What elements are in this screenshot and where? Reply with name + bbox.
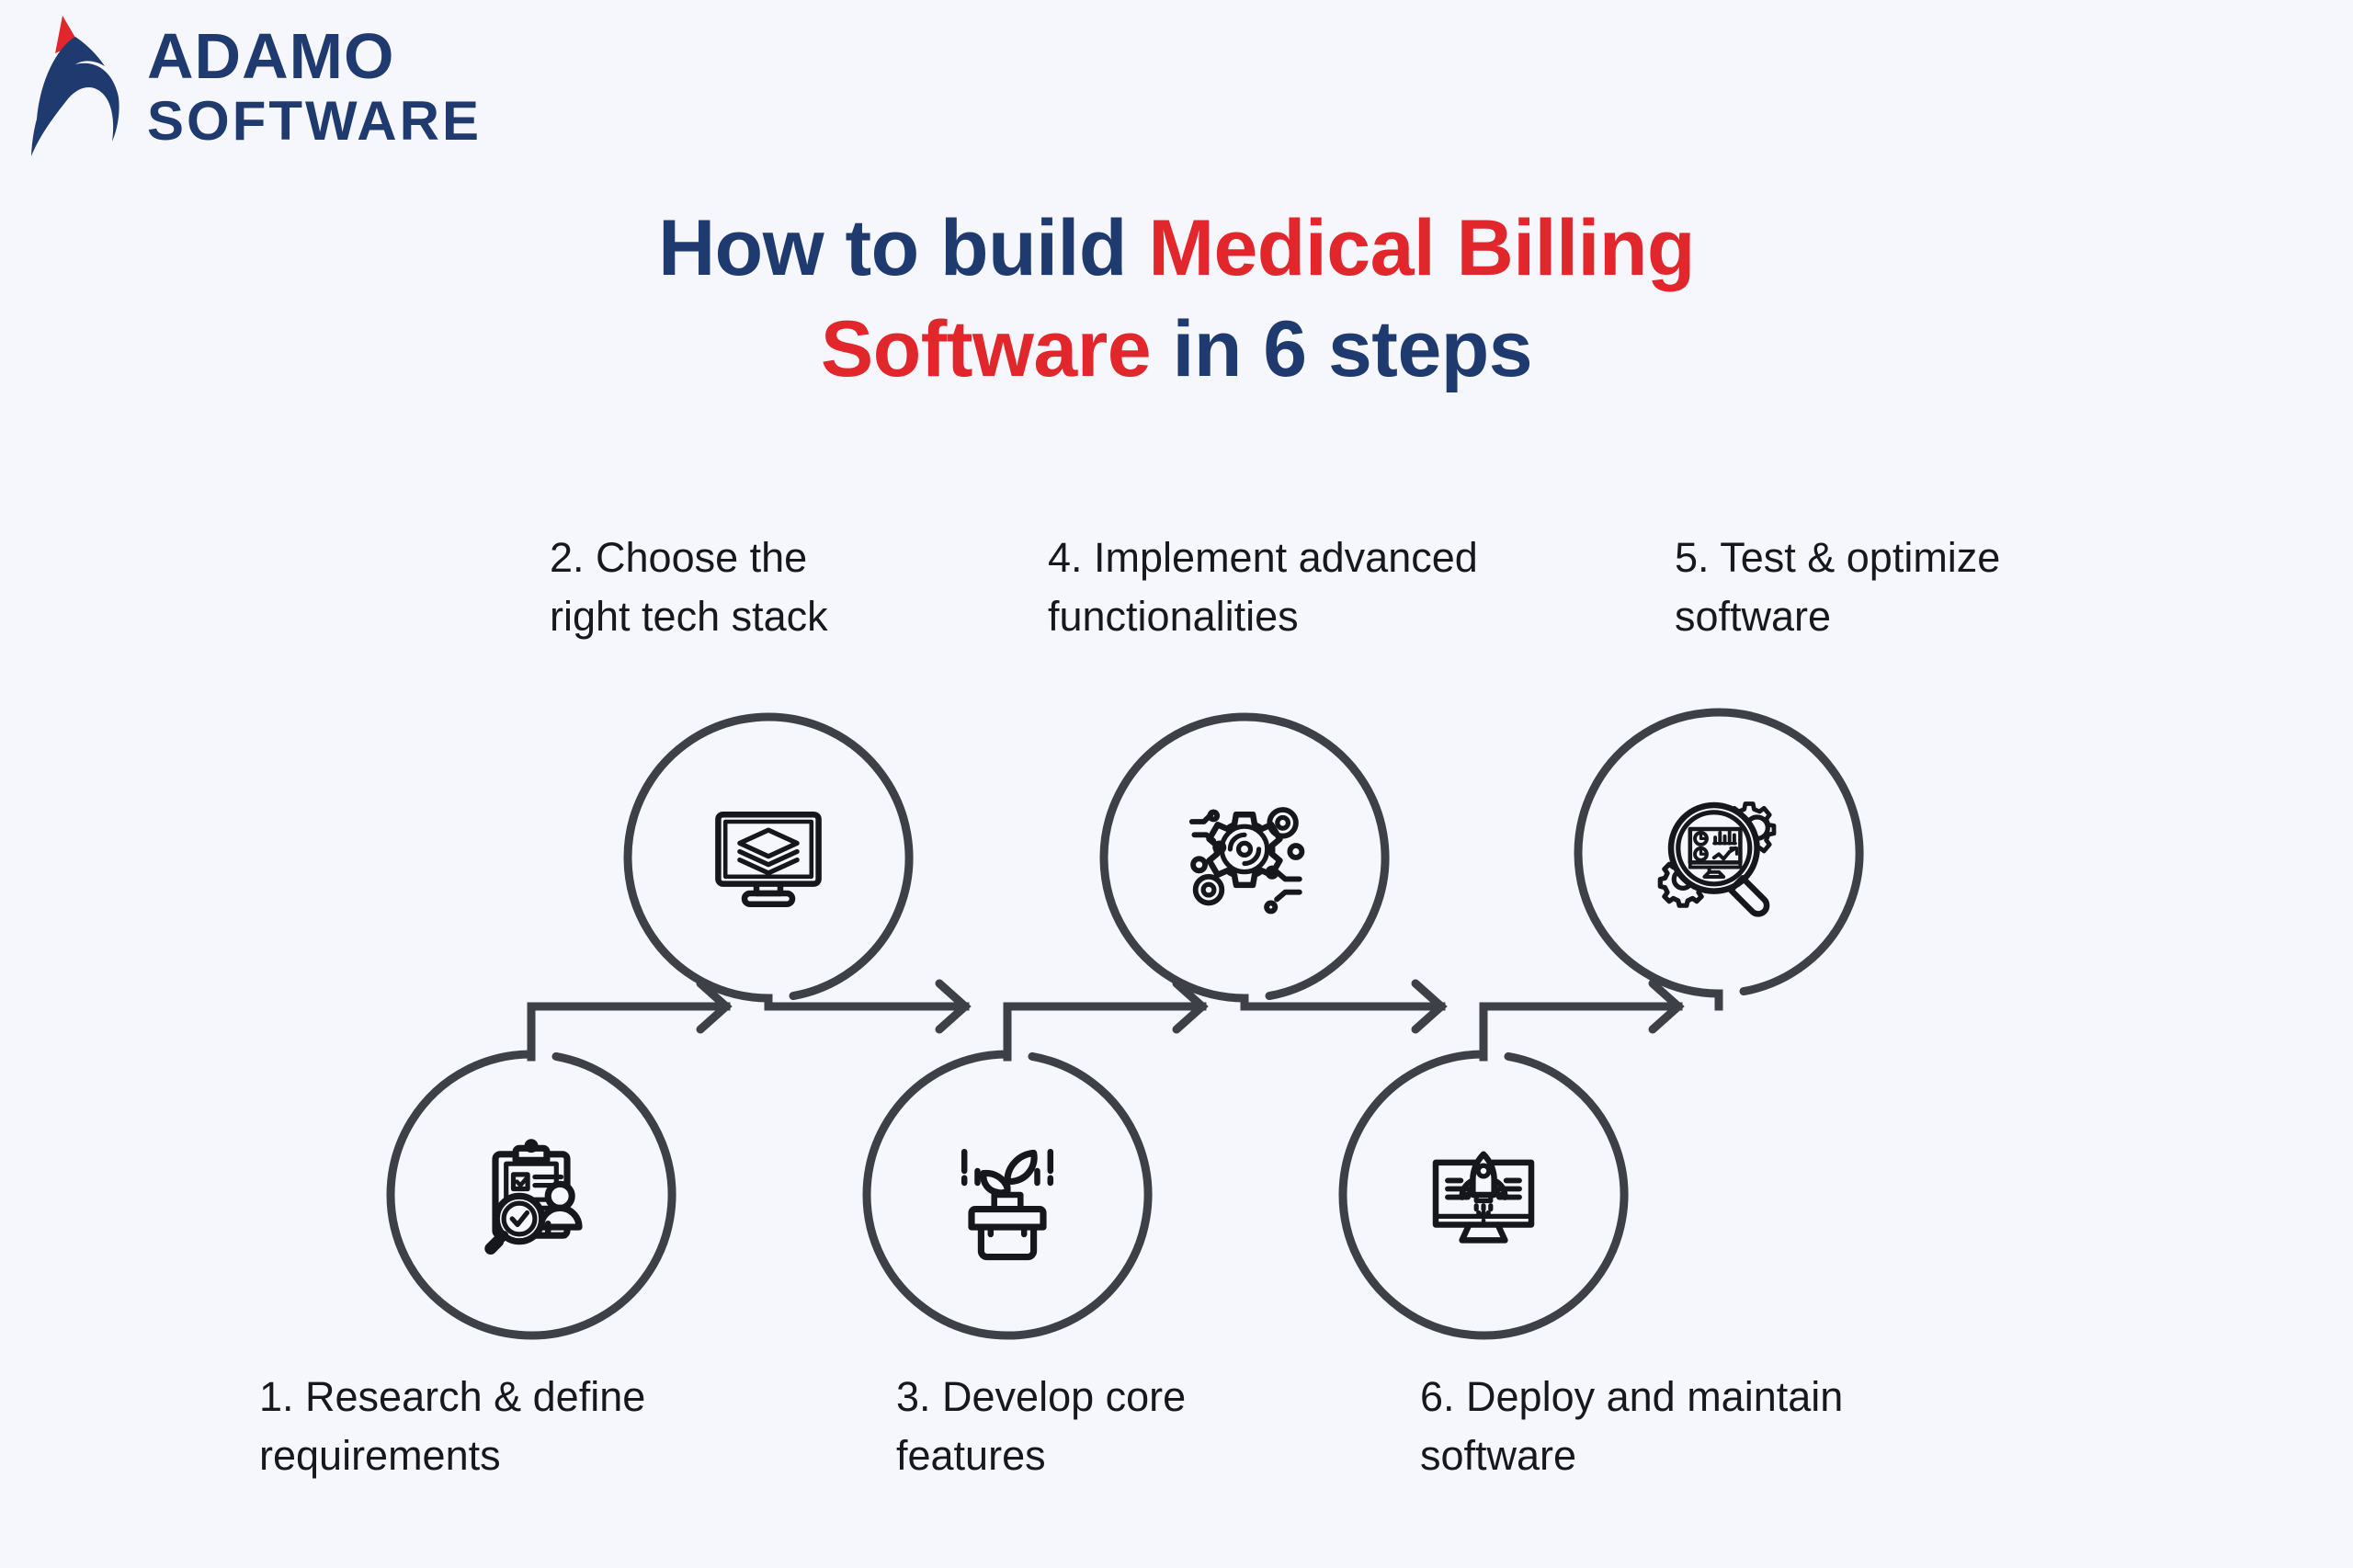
step-label-5: 5. Test & optimize software — [1675, 528, 2134, 646]
monitor-layers-stack-icon — [718, 814, 818, 904]
step-label-6: 6. Deploy and maintain software — [1420, 1368, 1990, 1485]
step-label-1: 1. Research & define requirements — [259, 1368, 774, 1485]
step-label-3: 3. Develop core features — [896, 1368, 1291, 1485]
connector-3-to-4 — [1007, 1006, 1202, 1057]
clipboard-checklist-magnifier-person-icon — [491, 1142, 579, 1249]
circle-step-1 — [391, 1054, 672, 1335]
monitor-rocket-launch-icon — [1436, 1154, 1531, 1241]
gear-circuit-nodes-icon — [1192, 810, 1302, 911]
step-label-4: 4. Implement advanced functionalities — [1048, 528, 1618, 646]
connector-6-to-5 — [1483, 1006, 1678, 1057]
briefcase-growing-plant-icon — [964, 1152, 1051, 1256]
process-flow-diagram — [0, 0, 2353, 1568]
flow-canvas — [0, 0, 2353, 1568]
step-label-2: 2. Choose the right tech stack — [550, 528, 972, 646]
connector-4-to-5 — [1245, 998, 1441, 1006]
magnifier-dashboard-gears-icon — [1660, 804, 1774, 915]
connector-2-to-3 — [768, 998, 965, 1006]
connector-1-to-2 — [531, 1006, 726, 1057]
